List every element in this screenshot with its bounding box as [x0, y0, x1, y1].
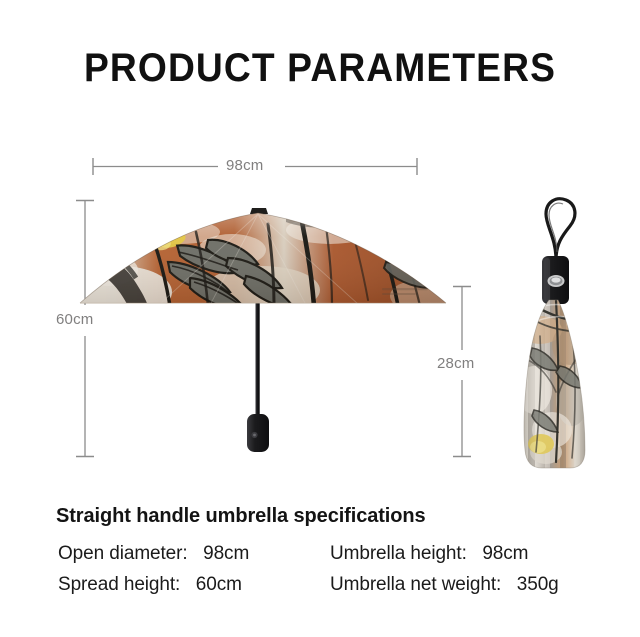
spec-row: Spread height: 60cm Umbrella net weight:… [0, 574, 640, 605]
folded-umbrella-body [516, 296, 590, 474]
spec-open-diameter: Open diameter: 98cm [58, 543, 249, 565]
open-umbrella [68, 205, 455, 452]
dimension-label-folded: 28cm [437, 355, 474, 372]
spec-label: Spread height: [58, 574, 180, 595]
spec-umbrella-height: Umbrella height: 98cm [330, 543, 528, 565]
spec-net-weight: Umbrella net weight: 350g [330, 574, 559, 596]
product-parameters-page: PRODUCT PARAMETERS [0, 0, 640, 637]
spec-value: 98cm [203, 543, 249, 564]
spec-value: 98cm [482, 543, 528, 564]
folded-umbrella-handle [542, 256, 569, 304]
dimension-label-height: 60cm [56, 311, 93, 328]
wrist-strap [546, 199, 575, 260]
spec-label: Umbrella height: [330, 543, 467, 564]
dimension-height-60cm [76, 200, 94, 457]
folded-umbrella [516, 199, 590, 474]
umbrella-canopy [68, 205, 455, 318]
spec-value: 350g [517, 574, 559, 595]
umbrella-handle [247, 414, 269, 452]
diagram-svg [0, 0, 640, 500]
spec-value: 60cm [196, 574, 242, 595]
specifications-heading: Straight handle umbrella specifications [56, 505, 426, 528]
spec-spread-height: Spread height: 60cm [58, 574, 242, 596]
umbrella-diagram: 98cm 60cm 28cm [0, 0, 640, 500]
spec-label: Umbrella net weight: [330, 574, 501, 595]
dimension-label-width: 98cm [226, 157, 263, 174]
spec-row: Open diameter: 98cm Umbrella height: 98c… [0, 543, 640, 574]
spec-label: Open diameter: [58, 543, 188, 564]
